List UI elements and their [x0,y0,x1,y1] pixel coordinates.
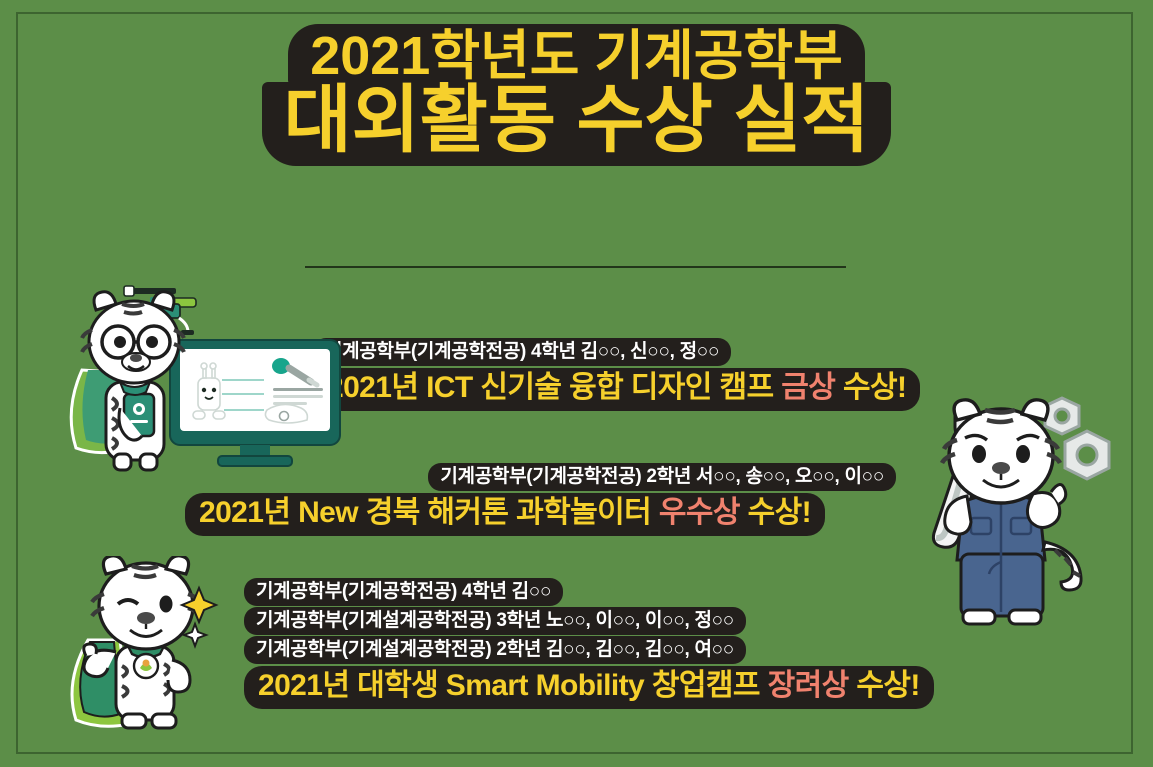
award-prize-badge: 금상 [781,371,835,404]
tiger-winker-character [72,556,200,728]
award-prize-badge: 우수상 [659,496,740,529]
award-title-main: 2021년 대학생 Smart Mobility 창업캠프 [258,669,768,702]
award-title: 2021년 ICT 신기술 융합 디자인 캠프 금상 수상! [313,368,920,411]
mechanic-tiger-illustration [905,392,1140,637]
title-divider [305,266,846,268]
participant-line: 기계공학부(기계공학전공) 4학년 김○○, 신○○, 정○○ [313,338,731,366]
award-entry-3: 기계공학부(기계공학전공) 4학년 김○○ 기계공학부(기계설계공학전공) 3학… [244,578,934,709]
award-entry-1: 기계공학부(기계공학전공) 4학년 김○○, 신○○, 정○○ 2021년 IC… [313,338,920,411]
winking-tiger-illustration [52,556,252,751]
title-line-2-text: 대외활동 수상 실적 [262,82,892,165]
tiger-scientist-character [71,292,184,470]
award-entry-2: 기계공학부(기계공학전공) 2학년 서○○, 송○○, 오○○, 이○○ 202… [185,463,896,536]
poster-title-block: 2021학년도 기계공학부 대외활동 수상 실적 [0,24,1153,166]
award-entry-2-award-wrap: 2021년 New 경북 해커톤 과학놀이터 우수상 수상! [185,492,896,536]
participant-line: 기계공학부(기계공학전공) 2학년 서○○, 송○○, 오○○, 이○○ [428,463,896,491]
award-suffix: 수상! [835,371,906,404]
award-suffix: 수상! [849,669,920,702]
award-title: 2021년 대학생 Smart Mobility 창업캠프 장려상 수상! [244,666,934,709]
award-entry-1-names: 기계공학부(기계공학전공) 4학년 김○○, 신○○, 정○○ [313,338,920,367]
computer-monitor-icon [170,340,340,466]
participant-line: 기계공학부(기계설계공학전공) 2학년 김○○, 김○○, 김○○, 여○○ [244,636,746,664]
scientist-tiger-illustration [62,278,352,473]
participant-line: 기계공학부(기계공학전공) 4학년 김○○ [244,578,563,606]
award-prize-badge: 장려상 [768,669,849,702]
title-line-1: 2021학년도 기계공학부 [0,24,1153,86]
award-title: 2021년 New 경북 해커톤 과학놀이터 우수상 수상! [185,493,825,536]
hex-nut-icon [1065,431,1109,479]
participant-line: 기계공학부(기계설계공학전공) 3학년 노○○, 이○○, 이○○, 정○○ [244,607,746,635]
award-title-main: 2021년 New 경북 해커톤 과학놀이터 [199,496,659,529]
award-entry-3-names: 기계공학부(기계공학전공) 4학년 김○○ 기계공학부(기계설계공학전공) 3학… [244,578,934,665]
hex-nut-icon [1045,398,1079,434]
title-line-1-text: 2021학년도 기계공학부 [288,24,865,86]
title-line-2: 대외활동 수상 실적 [0,86,1153,165]
award-entry-1-award-wrap: 2021년 ICT 신기술 융합 디자인 캠프 금상 수상! [313,367,920,411]
award-entry-3-award-wrap: 2021년 대학생 Smart Mobility 창업캠프 장려상 수상! [244,665,934,709]
award-suffix: 수상! [740,496,811,529]
poster-root: 2021학년도 기계공학부 대외활동 수상 실적 기계공학부(기계공학전공) 4… [0,0,1153,767]
award-title-main: 2021년 ICT 신기술 융합 디자인 캠프 [327,371,781,404]
